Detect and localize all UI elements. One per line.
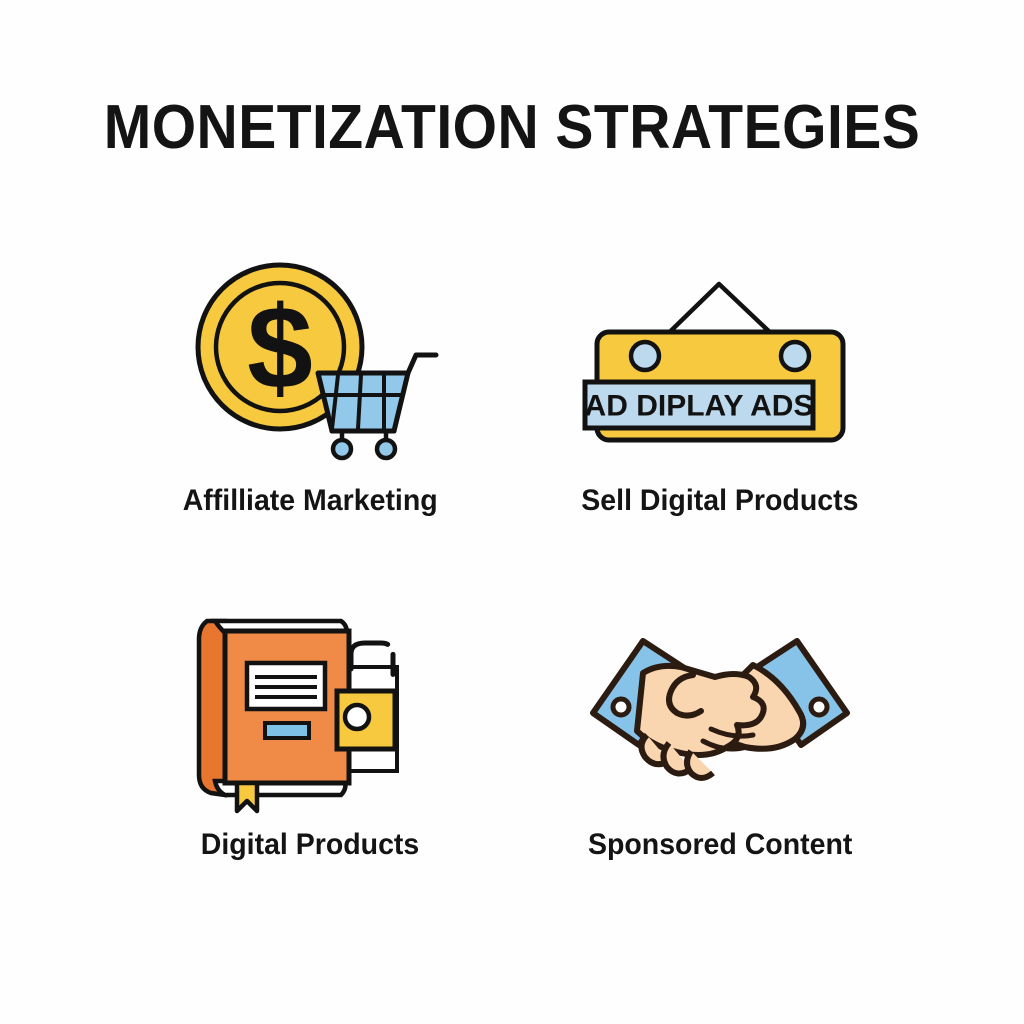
strategy-card-affiliate-marketing[interactable]: $ bbox=[120, 250, 500, 581]
handshake-icon bbox=[570, 599, 870, 814]
strategy-label-sponsored-content: Sponsored Content bbox=[588, 828, 852, 862]
strategy-grid: $ bbox=[120, 250, 910, 930]
cufflink-right bbox=[811, 699, 827, 715]
sign-grommet-left bbox=[631, 342, 659, 370]
cart-wheel-left bbox=[333, 440, 351, 458]
sign-grommet-right bbox=[781, 342, 809, 370]
cufflink-left bbox=[613, 699, 629, 715]
book-padlock-svg bbox=[185, 599, 435, 814]
padlock-keyhole bbox=[345, 705, 369, 729]
book-blue-bar bbox=[265, 723, 309, 738]
ad-sign-svg: AD DIPLAY ADS bbox=[585, 260, 855, 460]
book-spine bbox=[199, 621, 225, 795]
coin-cart-svg: $ bbox=[180, 255, 440, 465]
strategy-card-digital-products[interactable]: Digital Products bbox=[120, 599, 500, 930]
strategy-label-sell-digital-products: Sell Digital Products bbox=[581, 484, 858, 518]
cart-wheel-right bbox=[377, 440, 395, 458]
book-bookmark bbox=[237, 783, 257, 811]
strategy-card-sell-digital-products[interactable]: AD DIPLAY ADS Sell Digital Products bbox=[530, 250, 910, 581]
strategy-label-digital-products: Digital Products bbox=[201, 828, 420, 862]
strategy-label-affiliate-marketing: Affilliate Marketing bbox=[183, 484, 438, 518]
infographic-canvas: MONETIZATION STRATEGIES $ bbox=[0, 0, 1024, 1024]
page-title: MONETIZATION STRATEGIES bbox=[41, 92, 983, 163]
sign-banner-text: AD DIPLAY ADS bbox=[585, 390, 814, 423]
handshake-svg bbox=[585, 627, 855, 787]
hanging-ad-sign-icon: AD DIPLAY ADS bbox=[570, 250, 870, 470]
coin-dollar-shopping-cart-icon: $ bbox=[160, 250, 460, 470]
book-with-padlock-icon bbox=[160, 599, 460, 814]
dollar-symbol: $ bbox=[247, 282, 313, 414]
strategy-card-sponsored-content[interactable]: Sponsored Content bbox=[530, 599, 910, 930]
